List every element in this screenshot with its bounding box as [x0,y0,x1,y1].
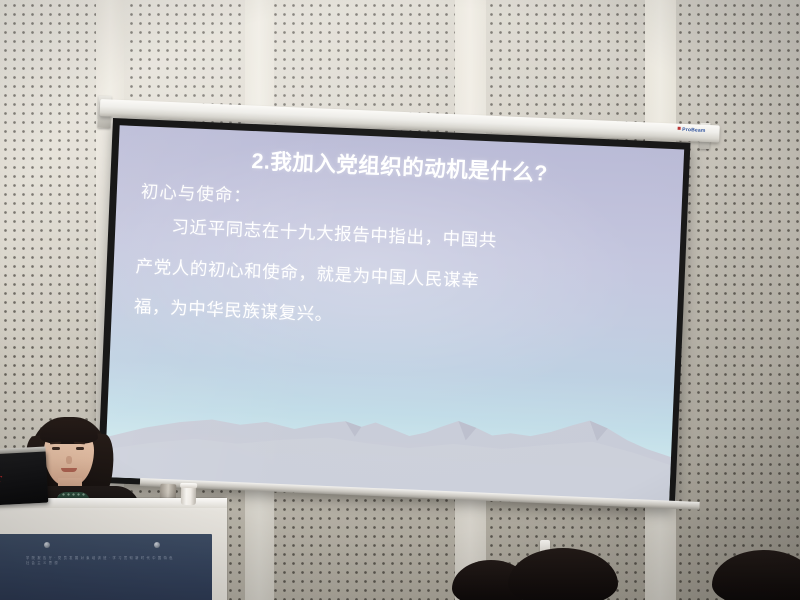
screen-brand-logo: ProBeam [677,127,706,134]
lecture-hall-photo: ProBeam 2.我加入党组织的动机是什么? 初心与使命： 习近平同志在十九大… [0,0,800,600]
presenter-mouth [61,468,77,472]
lecture-podium: 学 院 报 告 厅 · 党 员 发 展 对 象 培 训 班 · 学 习 贯 彻 … [0,498,227,600]
slide-body-line: 产党人的初心和使命，就是为中国人民谋幸 [135,258,660,298]
presenter-eye-left [52,447,60,450]
podium-panel-text: 学 院 报 告 厅 · 党 员 发 展 对 象 培 训 班 · 学 习 贯 彻 … [26,556,176,582]
laptop-lid-edge [0,447,46,455]
slide-body-line: 福，为中华民族谋复兴。 [134,298,659,338]
presenter-laptop[interactable]: T [0,451,48,506]
projected-slide: 2.我加入党组织的动机是什么? 初心与使命： 习近平同志在十九大报告中指出，中国… [105,125,685,501]
paper-cup-lid [180,483,197,488]
slide-body-line: 习近平同志在十九大报告中指出，中国共 [137,217,662,257]
slide-paragraph: 习近平同志在十九大报告中指出，中国共 产党人的初心和使命，就是为中国人民谋幸 福… [134,217,663,338]
slide-content: 2.我加入党组织的动机是什么? 初心与使命： 习近平同志在十九大报告中指出，中国… [112,125,685,338]
podium-screw [44,542,50,548]
podium-screw [154,542,160,548]
laptop-brand-logo: T [0,474,2,484]
presenter-fringe [40,420,98,444]
podium-front-panel: 学 院 报 告 厅 · 党 员 发 展 对 象 培 训 班 · 学 习 贯 彻 … [0,534,212,600]
presenter-eye-right [76,447,84,450]
paper-cup [181,483,196,505]
projection-screen-frame: 2.我加入党组织的动机是什么? 初心与使命： 习近平同志在十九大报告中指出，中国… [97,118,690,507]
presenter-nose [66,456,72,464]
